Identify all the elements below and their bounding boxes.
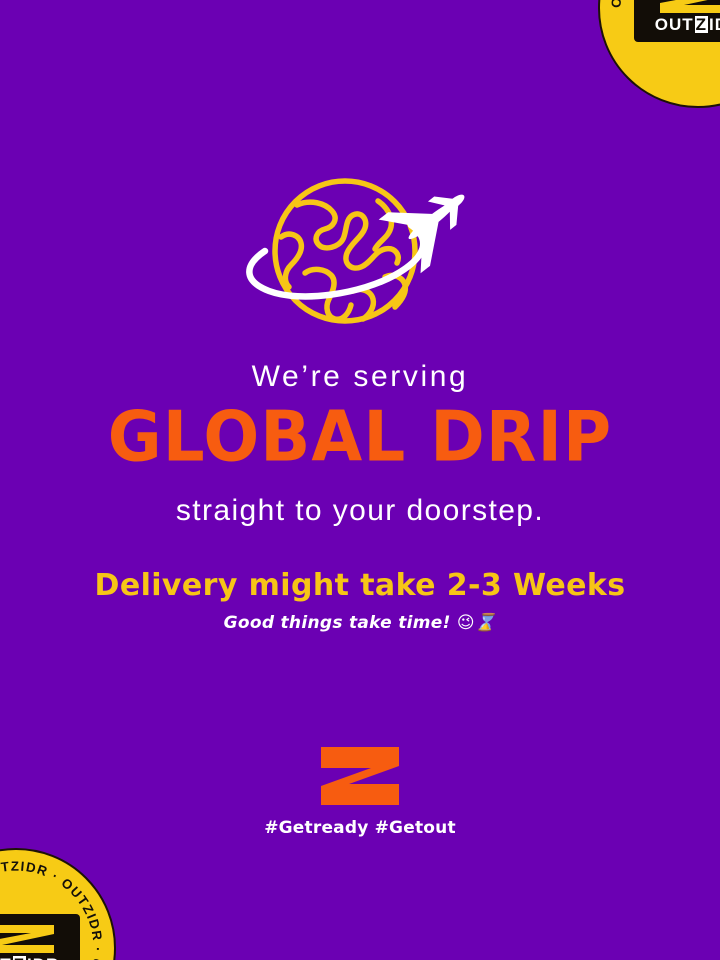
badge-wordmark: OUTZIDR xyxy=(0,956,59,960)
airplane-icon xyxy=(379,169,485,273)
badge-core: OUTZIDR xyxy=(634,0,720,42)
delivery-estimate-line: Delivery might take 2-3 Weeks xyxy=(0,569,720,602)
badge-wordmark-z: Z xyxy=(695,16,708,33)
badge-core: OUTZIDR xyxy=(0,914,80,960)
copy-block: We’re serving GLOBAL DRIP straight to yo… xyxy=(0,360,720,633)
globe-icon xyxy=(275,181,415,321)
tagline-hashtags: #Getready #Getout xyxy=(264,820,456,837)
badge-wordmark-z: Z xyxy=(13,956,26,960)
straight-to-doorstep-line: straight to your doorstep. xyxy=(0,494,720,527)
outzidr-z-logo xyxy=(319,746,401,806)
badge-wordmark: OUTZIDR xyxy=(655,16,720,33)
good-things-line: Good things take time! 😉⌛ xyxy=(0,614,720,633)
outzidr-badge-bottom-left: OUTZIDR · OUTZIDR · OUTZIDR · OUTZIDR · … xyxy=(0,848,116,960)
outzidr-badge-top-right: OUTZIDR · OUTZIDR · OUTZIDR · OUTZIDR · … xyxy=(598,0,720,108)
badge-wordmark-pre: OUT xyxy=(655,16,694,33)
poster-canvas: OUTZIDR · OUTZIDR · OUTZIDR · OUTZIDR · … xyxy=(0,0,720,960)
badge-wordmark-pre: OUT xyxy=(0,956,12,960)
z-mark-icon xyxy=(658,0,720,14)
z-mark-icon xyxy=(0,924,56,954)
serving-line: We’re serving xyxy=(0,360,720,393)
hero-illustration xyxy=(0,168,720,353)
headline-global-drip: GLOBAL DRIP xyxy=(0,397,720,477)
footer-lockup: #Getready #Getout xyxy=(0,746,720,837)
badge-wordmark-post: IDR xyxy=(709,16,720,33)
badge-wordmark-post: IDR xyxy=(27,956,59,960)
